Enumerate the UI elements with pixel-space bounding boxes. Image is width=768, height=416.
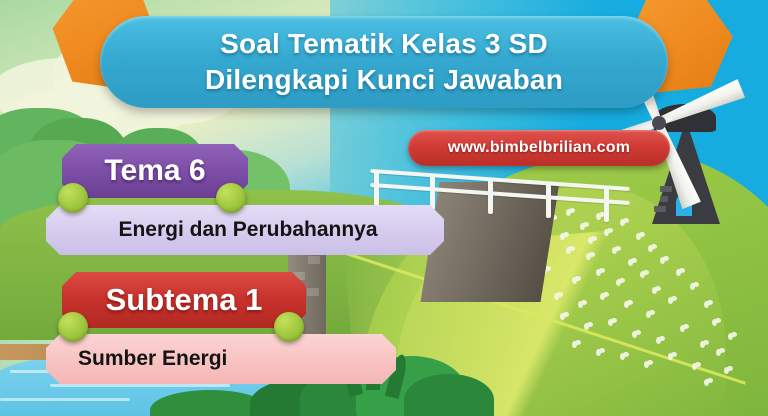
poster-canvas: Soal Tematik Kelas 3 SD Dilengkapi Kunci…	[0, 0, 768, 416]
website-url-text: www.bimbelbrilian.com	[448, 139, 630, 157]
flower-icon	[632, 330, 641, 339]
flower-icon	[580, 222, 589, 231]
fence-post	[374, 172, 379, 206]
pin-stud-icon	[274, 312, 304, 342]
subtema-badge-label: Subtema 1	[62, 282, 306, 318]
flower-icon	[668, 296, 677, 305]
poster-title: Soal Tematik Kelas 3 SD Dilengkapi Kunci…	[100, 16, 668, 108]
pin-stud-icon	[58, 312, 88, 342]
brick	[660, 186, 672, 192]
subtema-badge: Subtema 1	[62, 272, 306, 328]
flower-icon	[604, 228, 613, 237]
pin-stud-icon	[216, 183, 246, 213]
flower-icon	[724, 366, 733, 375]
title-line-2: Dilengkapi Kunci Jawaban	[205, 62, 563, 98]
flower-icon	[612, 246, 621, 255]
tema-badge-label: Tema 6	[62, 154, 248, 188]
water-line	[0, 398, 130, 401]
flower-icon	[588, 236, 597, 245]
flower-icon	[656, 336, 665, 345]
windmill-hub	[652, 116, 666, 130]
brick	[654, 206, 666, 212]
tema-panel-label: Energi dan Perubahannya	[46, 218, 444, 242]
tema-panel: Energi dan Perubahannya	[46, 205, 444, 255]
flower-icon	[600, 292, 609, 301]
brick	[308, 256, 320, 264]
flower-icon	[596, 348, 605, 357]
subtema-panel-label: Sumber Energi	[46, 347, 396, 371]
fence-post	[430, 176, 435, 210]
flower-icon	[616, 278, 625, 287]
brick	[307, 288, 319, 296]
flower-icon	[652, 286, 661, 295]
fence-post	[546, 184, 551, 218]
flower-icon	[640, 270, 649, 279]
flower-icon	[660, 256, 669, 265]
flower-icon	[712, 318, 721, 327]
flower-icon	[572, 340, 581, 349]
flower-icon	[716, 348, 725, 357]
title-line-1: Soal Tematik Kelas 3 SD	[220, 26, 548, 62]
flower-icon	[690, 282, 699, 291]
flower-icon	[646, 310, 655, 319]
flower-icon	[628, 258, 637, 267]
brick	[660, 196, 668, 202]
flower-icon	[704, 300, 713, 309]
website-url-badge[interactable]: www.bimbelbrilian.com	[408, 130, 670, 166]
flower-icon	[596, 268, 605, 277]
flower-icon	[586, 252, 595, 261]
flower-icon	[692, 362, 701, 371]
flower-icon	[566, 246, 575, 255]
flower-icon	[572, 276, 581, 285]
flower-icon	[676, 268, 685, 277]
flower-icon	[704, 378, 713, 387]
flower-icon	[608, 318, 617, 327]
flower-icon	[728, 332, 737, 341]
flower-icon	[636, 232, 645, 241]
flower-icon	[680, 324, 689, 333]
pin-stud-icon	[58, 183, 88, 213]
flower-icon	[648, 244, 657, 253]
subtema-panel: Sumber Energi	[46, 334, 396, 384]
flower-icon	[620, 352, 629, 361]
water-line	[50, 384, 230, 387]
flower-icon	[700, 340, 709, 349]
flower-icon	[560, 232, 569, 241]
flower-icon	[624, 300, 633, 309]
fence-post	[488, 180, 493, 214]
flower-icon	[584, 322, 593, 331]
flower-icon	[560, 312, 569, 321]
flower-icon	[644, 360, 653, 369]
flower-icon	[668, 352, 677, 361]
flower-icon	[578, 300, 587, 309]
flower-icon	[554, 292, 563, 301]
